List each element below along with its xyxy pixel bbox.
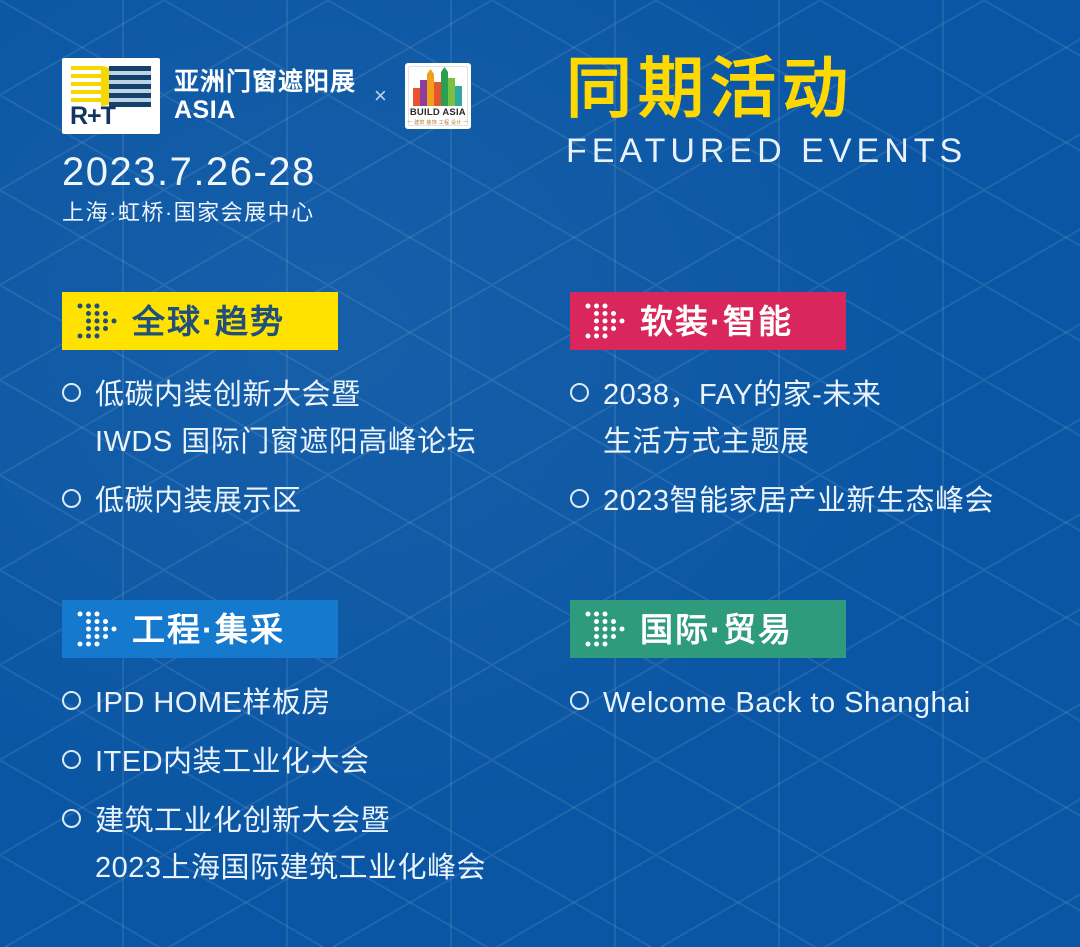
circle-bullet-icon: [570, 489, 589, 508]
section-item-list: Welcome Back to Shanghai: [570, 680, 971, 727]
list-item[interactable]: ITED内装工业化大会: [62, 739, 486, 786]
dot-matrix-icon: [76, 302, 120, 340]
list-item-line2: 生活方式主题展: [603, 419, 881, 466]
event-venue: 上海·虹桥·国家会展中心: [62, 202, 471, 224]
list-item[interactable]: 低碳内装展示区: [62, 478, 476, 525]
list-item[interactable]: 低碳内装创新大会暨IWDS 国际门窗遮阳高峰论坛: [62, 372, 476, 466]
circle-bullet-icon: [62, 750, 81, 769]
list-item-line1: Welcome Back to Shanghai: [603, 687, 971, 719]
dot-matrix-icon: [584, 610, 628, 648]
list-item-text: 2023智能家居产业新生态峰会: [603, 478, 994, 525]
section-badge-engineering-procurement[interactable]: 工程·集采: [62, 600, 338, 658]
list-item-line1: 2023智能家居产业新生态峰会: [603, 485, 994, 517]
list-item-line1: 低碳内装创新大会暨: [95, 379, 361, 411]
page-title: 同期活动 FEATURED EVENTS: [566, 52, 967, 171]
list-item-line1: 低碳内装展示区: [95, 485, 302, 517]
section-badge-soft-decoration-smart[interactable]: 软装·智能: [570, 292, 846, 350]
circle-bullet-icon: [62, 383, 81, 402]
section-badge-label: 软装·智能: [640, 305, 793, 338]
list-item-line2: 2023上海国际建筑工业化峰会: [95, 845, 486, 892]
list-item[interactable]: IPD HOME样板房: [62, 680, 486, 727]
build-asia-subtitle: 一 建筑 装饰 工程 设计 一: [405, 119, 471, 126]
dot-matrix-icon: [76, 610, 120, 648]
list-item-text: ITED内装工业化大会: [95, 739, 370, 786]
section-item-list: IPD HOME样板房ITED内装工业化大会建筑工业化创新大会暨2023上海国际…: [62, 680, 486, 892]
build-asia-skyline-icon: [405, 66, 471, 108]
section-engineering-procurement: 工程·集采IPD HOME样板房ITED内装工业化大会建筑工业化创新大会暨202…: [62, 600, 486, 904]
rt-wordmark: R+T: [70, 102, 115, 131]
poster-header: R+T 亚洲门窗遮阳展 ASIA ×: [62, 58, 471, 224]
circle-bullet-icon: [570, 383, 589, 402]
list-item[interactable]: 2023智能家居产业新生态峰会: [570, 478, 994, 525]
list-item-line1: 2038，FAY的家-未来: [603, 379, 881, 411]
section-badge-label: 国际·贸易: [640, 613, 793, 646]
circle-bullet-icon: [62, 691, 81, 710]
section-item-list: 低碳内装创新大会暨IWDS 国际门窗遮阳高峰论坛低碳内装展示区: [62, 372, 476, 525]
section-item-list: 2038，FAY的家-未来生活方式主题展2023智能家居产业新生态峰会: [570, 372, 994, 525]
section-badge-label: 全球·趋势: [132, 305, 285, 338]
event-date: 2023.7.26-28: [62, 152, 471, 192]
logo-row: R+T 亚洲门窗遮阳展 ASIA ×: [62, 58, 471, 134]
list-item-line1: ITED内装工业化大会: [95, 746, 370, 778]
build-asia-logo: BUILD ASIA 一 建筑 装饰 工程 设计 一: [405, 63, 471, 129]
list-item-text: 低碳内装创新大会暨IWDS 国际门窗遮阳高峰论坛: [95, 372, 476, 466]
cross-separator-icon: ×: [374, 83, 387, 109]
circle-bullet-icon: [62, 809, 81, 828]
dot-matrix-icon: [584, 302, 628, 340]
featured-events-poster: R+T 亚洲门窗遮阳展 ASIA ×: [0, 0, 1080, 947]
brand-name-en: ASIA: [174, 96, 356, 124]
list-item-text: Welcome Back to Shanghai: [603, 680, 971, 727]
list-item-text: IPD HOME样板房: [95, 680, 331, 727]
page-title-cn: 同期活动: [566, 52, 967, 126]
list-item-line2: IWDS 国际门窗遮阳高峰论坛: [95, 419, 476, 466]
list-item[interactable]: 2038，FAY的家-未来生活方式主题展: [570, 372, 994, 466]
list-item-line1: 建筑工业化创新大会暨: [95, 805, 390, 837]
list-item-text: 2038，FAY的家-未来生活方式主题展: [603, 372, 881, 466]
list-item-text: 低碳内装展示区: [95, 478, 302, 525]
page-title-en: FEATURED EVENTS: [566, 132, 967, 171]
section-international-trade: 国际·贸易Welcome Back to Shanghai: [570, 600, 971, 739]
circle-bullet-icon: [62, 489, 81, 508]
list-item-text: 建筑工业化创新大会暨2023上海国际建筑工业化峰会: [95, 798, 486, 892]
section-global-trend: 全球·趋势低碳内装创新大会暨IWDS 国际门窗遮阳高峰论坛低碳内装展示区: [62, 292, 476, 537]
circle-bullet-icon: [570, 691, 589, 710]
rt-asia-logo: R+T: [62, 58, 160, 134]
list-item[interactable]: Welcome Back to Shanghai: [570, 680, 971, 727]
section-badge-international-trade[interactable]: 国际·贸易: [570, 600, 846, 658]
section-soft-decoration-smart: 软装·智能2038，FAY的家-未来生活方式主题展2023智能家居产业新生态峰会: [570, 292, 994, 537]
section-badge-label: 工程·集采: [132, 613, 285, 646]
list-item[interactable]: 建筑工业化创新大会暨2023上海国际建筑工业化峰会: [62, 798, 486, 892]
rt-brand-text: 亚洲门窗遮阳展 ASIA: [174, 68, 356, 124]
build-asia-title: BUILD ASIA: [405, 107, 471, 118]
brand-name-cn: 亚洲门窗遮阳展: [174, 68, 356, 96]
section-badge-global-trend[interactable]: 全球·趋势: [62, 292, 338, 350]
list-item-line1: IPD HOME样板房: [95, 687, 331, 719]
